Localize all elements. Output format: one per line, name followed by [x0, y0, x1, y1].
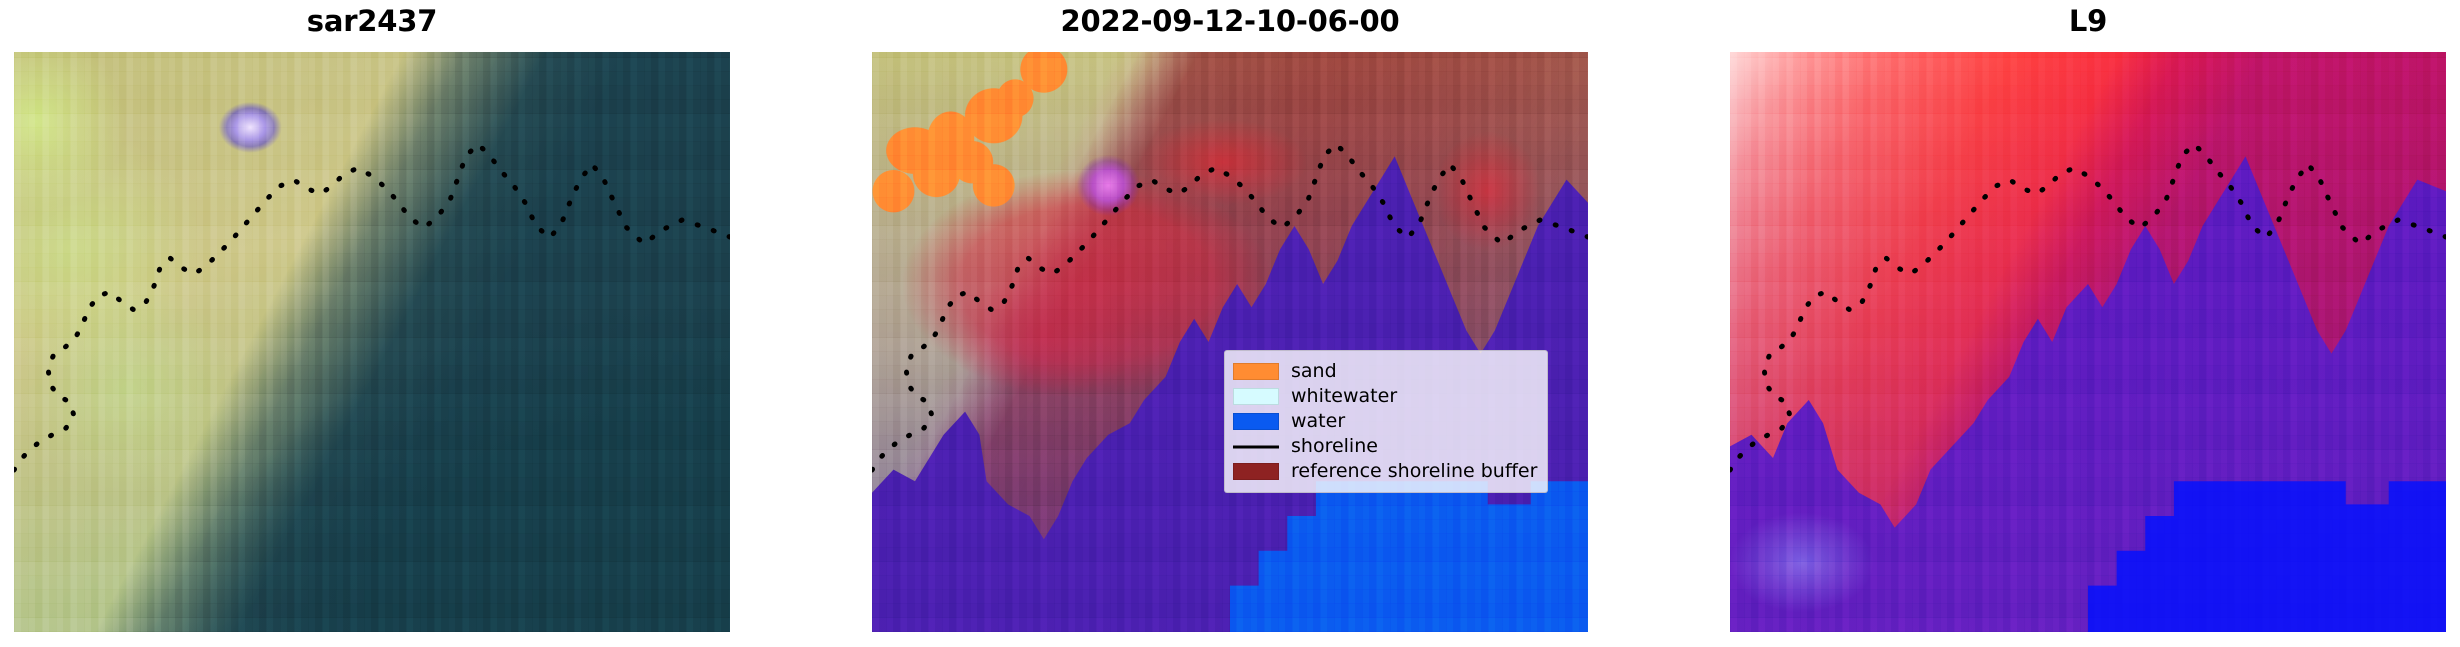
panel-l9-title: L9: [1730, 4, 2446, 40]
panel-rgb[interactable]: sar2437: [14, 0, 730, 647]
legend-swatch-sand: [1233, 363, 1279, 380]
panel-l9[interactable]: L9: [1730, 0, 2446, 647]
legend[interactable]: sand whitewater water shoreline referenc…: [1224, 350, 1548, 493]
panel-classification-raster: [872, 52, 1588, 632]
legend-item-reference-shoreline-buffer[interactable]: reference shoreline buffer: [1233, 459, 1537, 484]
legend-label-reference-shoreline-buffer: reference shoreline buffer: [1291, 462, 1537, 481]
panel-classification-axes[interactable]: sand whitewater water shoreline referenc…: [872, 52, 1588, 632]
legend-item-shoreline[interactable]: shoreline: [1233, 434, 1537, 459]
panel-rgb-raster: [14, 52, 730, 632]
legend-label-water: water: [1291, 412, 1345, 431]
panel-l9-axes[interactable]: [1730, 52, 2446, 632]
legend-item-sand[interactable]: sand: [1233, 359, 1537, 384]
legend-swatch-water: [1233, 413, 1279, 430]
legend-label-whitewater: whitewater: [1291, 387, 1397, 406]
legend-swatch-reference-shoreline-buffer: [1233, 463, 1279, 480]
legend-swatch-whitewater: [1233, 388, 1279, 405]
legend-item-whitewater[interactable]: whitewater: [1233, 384, 1537, 409]
figure-canvas: sar2437 2022-09-12-10-06-00: [0, 0, 2460, 647]
legend-item-water[interactable]: water: [1233, 409, 1537, 434]
panel-classification-title: 2022-09-12-10-06-00: [872, 4, 1588, 40]
sensor-flare: [14, 52, 730, 632]
legend-label-shoreline: shoreline: [1291, 437, 1378, 456]
panel-rgb-title: sar2437: [14, 4, 730, 40]
panel-l9-raster: [1730, 52, 2446, 632]
panel-classification[interactable]: 2022-09-12-10-06-00: [872, 0, 1588, 647]
panel-rgb-axes[interactable]: [14, 52, 730, 632]
legend-label-sand: sand: [1291, 362, 1337, 381]
legend-swatch-shoreline: [1233, 438, 1279, 455]
